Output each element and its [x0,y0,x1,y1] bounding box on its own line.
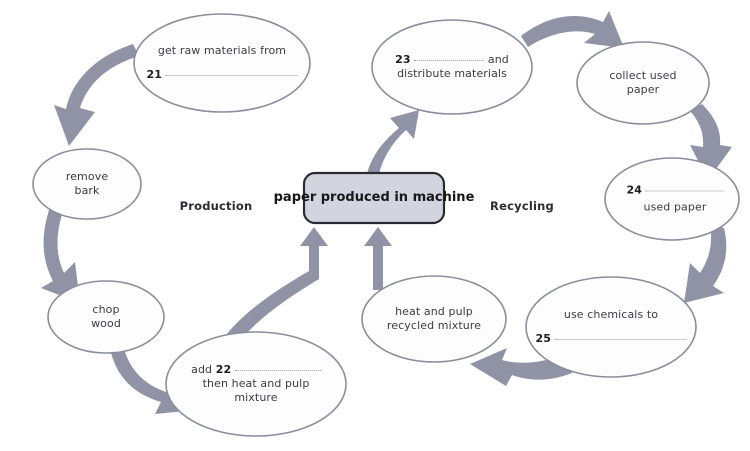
arrow-add-to-box [222,227,328,347]
node-use-chemicals[interactable] [526,277,696,377]
diagram-graphics [0,0,750,451]
diagram-canvas: get raw materials from 21 remove bark ch… [0,0,750,451]
node-layer [33,14,739,436]
node-add-22-heat-pulp[interactable] [166,332,346,436]
node-chop-wood[interactable] [48,281,164,353]
arrow-heat-to-box [364,227,392,290]
node-collect-used-paper[interactable] [577,42,709,124]
node-heat-pulp-recycled[interactable] [362,276,506,362]
arrow-distribute-to-collect [521,11,624,48]
node-24-used-paper[interactable] [605,158,739,240]
center-box[interactable] [304,173,444,223]
arrow-raw-to-bark [54,44,139,146]
node-get-raw-materials[interactable] [134,14,310,112]
node-distribute-materials[interactable] [372,20,532,114]
arrow-box-to-distribute [367,110,419,174]
node-remove-bark[interactable] [33,149,141,219]
